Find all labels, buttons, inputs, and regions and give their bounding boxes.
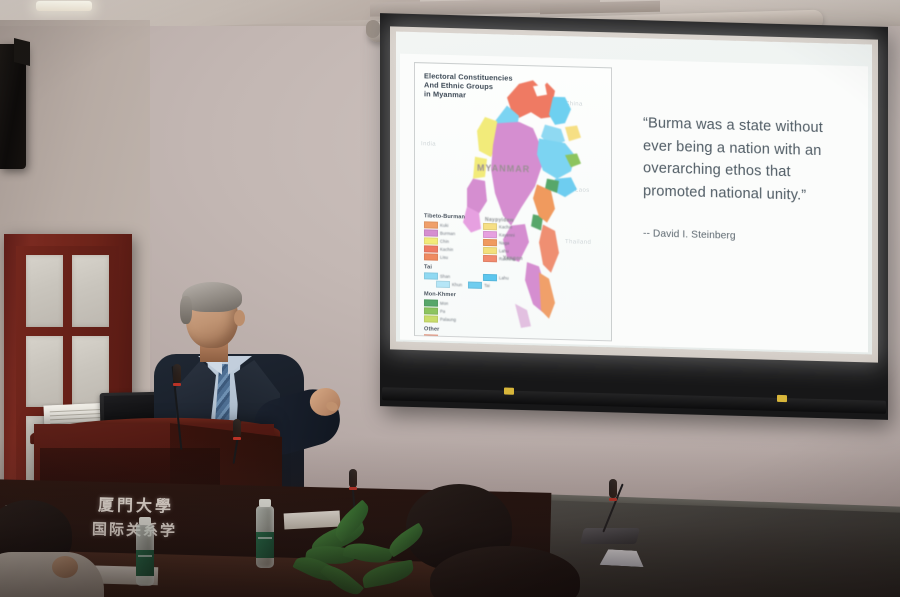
legend-group-tibeto-burman: Tibeto-Burman Kuki Kachin Burman Kayenni… (424, 213, 544, 265)
presenter-hair-side (180, 296, 192, 324)
legend-label: Kuki (440, 222, 449, 227)
myanmar-ethnic-map: Electoral Constituencies And Ethnic Grou… (414, 62, 612, 341)
legend-item: Rakhine (483, 255, 542, 264)
room-shadow-gradient (0, 437, 900, 597)
legend-swatch (424, 272, 438, 279)
legend-item: Lahu (483, 247, 542, 256)
legend-label: Lisu (440, 255, 448, 260)
microphone-indicator-ring (173, 383, 181, 386)
legend-item: Kachin (424, 245, 483, 254)
slide-quote-block: “Burma was a state without ever being a … (643, 112, 855, 245)
speaker-bracket (14, 38, 30, 66)
legend-item: Kachin (483, 222, 542, 231)
legend-label: Mon (440, 301, 448, 306)
legend-item: Lisu (424, 254, 483, 263)
door-pane (26, 336, 63, 408)
legend-label: Chin (440, 239, 449, 244)
legend-item: Kayenni (483, 231, 542, 240)
legend-group-mon-khmer: Mon-Khmer Mon Pa Palaung (424, 292, 544, 327)
legend-swatch (424, 245, 438, 252)
presentation-slide: Electoral Constituencies And Ethnic Grou… (400, 54, 868, 353)
legend-item: Chin (424, 237, 483, 246)
legend-swatch (424, 237, 438, 244)
microphone-head-icon (173, 364, 181, 383)
legend-item: Burman (424, 229, 483, 238)
legend-item: Lahu (483, 274, 542, 283)
legend-swatch (424, 307, 438, 314)
legend-swatch (424, 299, 438, 306)
map-country-label: MYANMAR (477, 163, 530, 174)
legend-swatch (483, 247, 497, 254)
quote-attribution: -- David I. Steinberg (643, 228, 855, 245)
screen-roller-cap (366, 20, 380, 38)
legend-label: Pa (440, 309, 445, 314)
legend-label: Chinese (Han) (440, 336, 468, 342)
wall-mounted-speaker (0, 44, 26, 169)
legend-swatch (483, 231, 497, 238)
legend-swatch (483, 274, 497, 281)
legend-label: Kayenni (499, 232, 515, 237)
legend-swatch (424, 254, 438, 261)
legend-group-other: Other Chinese (Han) Indians / Bangladesh… (424, 327, 544, 342)
legend-item: KhunTai (436, 281, 542, 291)
legend-group-tai: Tai Shan Lahu KhunTai (424, 265, 544, 292)
legend-label: Kachin (440, 247, 453, 252)
legend-label: Lahu (499, 248, 509, 253)
legend-item: Naga (483, 239, 542, 248)
legend-label: Rakhine (499, 257, 515, 262)
legend-label: Shan (440, 274, 450, 279)
legend-swatch (424, 229, 438, 236)
lecture-room-photo: Electoral Constituencies And Ethnic Grou… (0, 0, 900, 597)
legend-label: Burman (440, 230, 455, 235)
ceiling-light (36, 1, 92, 11)
legend-label: Kachin (499, 224, 512, 229)
screen-tab-right (777, 395, 787, 402)
legend-label: Lahu (499, 275, 509, 280)
presenter-ear (234, 310, 245, 326)
legend-swatch (424, 316, 438, 323)
legend-swatch (483, 239, 497, 246)
door-pane (26, 255, 63, 327)
legend-label: Naga (499, 240, 509, 245)
legend-swatch (424, 334, 438, 341)
legend-item: Shan (424, 272, 483, 281)
legend-swatch (483, 255, 497, 262)
projector-screen: Electoral Constituencies And Ethnic Grou… (380, 13, 888, 420)
legend-swatch (436, 281, 450, 288)
legend-item: Kuki (424, 221, 483, 230)
quote-text: “Burma was a state without ever being a … (643, 112, 855, 208)
legend-swatch (468, 282, 482, 289)
legend-label: Palaung (440, 317, 456, 322)
legend-swatch (424, 221, 438, 228)
legend-swatch (483, 222, 497, 229)
map-legend: Tibeto-Burman Kuki Kachin Burman Kayenni… (424, 213, 544, 341)
microphone-head-icon (233, 419, 241, 438)
door-pane (72, 255, 109, 327)
legend-label: Khun (452, 282, 462, 287)
legend-label: Tai (484, 283, 490, 288)
screen-tab-left (504, 387, 514, 394)
